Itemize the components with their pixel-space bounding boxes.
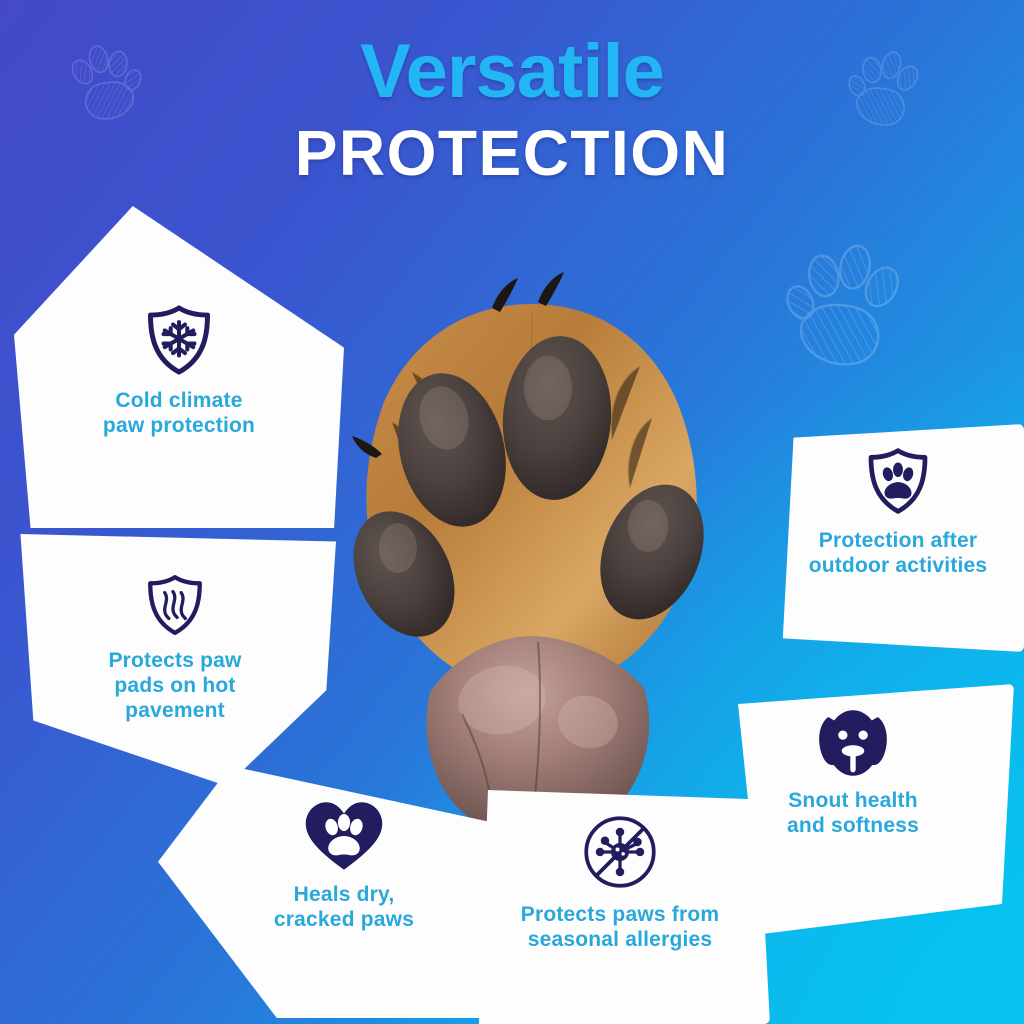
infographic-canvas: Versatile PROTECTION: [0, 0, 1024, 1024]
feature-card-label: Protects paw pads on hot pavement: [14, 648, 336, 724]
paw-print-watermark-right-icon: [779, 234, 912, 378]
feature-card-seasonal-allergies[interactable]: Protects paws from seasonal allergies: [470, 790, 770, 1024]
snowflake-shield-icon: [141, 302, 217, 378]
feature-card-label: Heals dry, cracked paws: [204, 882, 484, 932]
feature-card-cold-climate[interactable]: Cold climate paw protection: [14, 206, 344, 528]
heart-paw-icon: [302, 800, 386, 872]
page-title-secondary: PROTECTION: [0, 118, 1024, 190]
heat-wave-shield-icon: [142, 572, 208, 638]
feature-card-label: Cold climate paw protection: [14, 388, 344, 438]
feature-card-label: Protects paws from seasonal allergies: [470, 902, 770, 952]
feature-card-label: Protection after outdoor activities: [774, 528, 1022, 578]
feature-card-label: Snout health and softness: [726, 788, 980, 838]
paw-shield-icon: [862, 444, 934, 518]
feature-card-snout-health[interactable]: Snout health and softness: [714, 684, 1014, 934]
paw-print-watermark-top-left-icon: [63, 37, 148, 129]
feature-card-heals-paws[interactable]: Heals dry, cracked paws: [158, 766, 488, 1018]
feature-card-outdoor-activities[interactable]: Protection after outdoor activities: [756, 424, 1024, 652]
feature-card-hot-pavement[interactable]: Protects paw pads on hot pavement: [14, 534, 336, 786]
no-allergen-icon: [580, 812, 660, 892]
dog-face-icon: [812, 708, 894, 778]
paw-print-watermark-top-right-icon: [843, 43, 928, 135]
